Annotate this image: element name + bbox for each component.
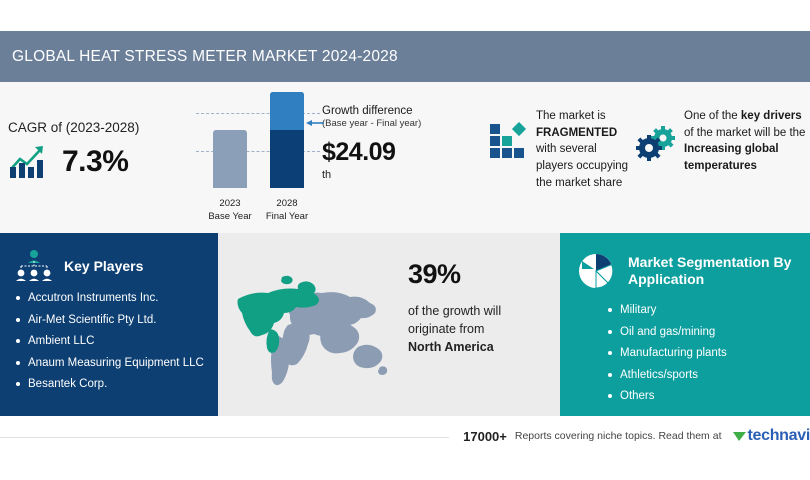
driver-line-3: Increasing global xyxy=(684,143,779,155)
bar-role-base: Base Year xyxy=(198,211,262,224)
growth-region: North America xyxy=(408,340,494,354)
bar-growth-segment xyxy=(270,92,304,130)
growth-difference-block: Growth difference (Base year - Final yea… xyxy=(322,104,487,181)
list-item: Besantek Corp. xyxy=(14,379,218,401)
infographic-root: GLOBAL HEAT STRESS METER MARKET 2024-202… xyxy=(0,0,810,480)
driver-line-1-bold: key drivers xyxy=(741,110,802,122)
growth-unit: th xyxy=(322,169,487,181)
gears-icon xyxy=(636,126,678,162)
list-item: Others xyxy=(606,391,810,413)
bar-year-final: 2028 xyxy=(255,198,319,211)
pie-chart-icon xyxy=(574,249,618,293)
key-players-list: Accutron Instruments Inc. Air-Met Scient… xyxy=(0,293,218,401)
market-fragmentation-text: The market is FRAGMENTED with several pl… xyxy=(536,108,628,191)
technavio-logo-text: technavi xyxy=(747,427,810,445)
market-segmentation-panel: Market Segmentation By Application Milit… xyxy=(560,233,810,416)
segmentation-header: Market Segmentation By Application xyxy=(560,233,810,293)
footer-report-count: 17000+ xyxy=(463,429,507,444)
list-item: Anaum Measuring Equipment LLC xyxy=(14,358,218,380)
page-title: GLOBAL HEAT STRESS METER MARKET 2024-202… xyxy=(0,48,398,66)
growth-amount: $24.09 xyxy=(322,138,487,167)
frag-line-4: players occupying xyxy=(536,158,628,175)
key-players-title: Key Players xyxy=(64,258,143,275)
segmentation-title-line-2: Application xyxy=(628,271,791,288)
bar-role-final: Final Year xyxy=(255,211,319,224)
list-item: Oil and gas/mining xyxy=(606,327,810,349)
bar-chart: 2023 Base Year 2028 Final Year xyxy=(196,100,316,228)
cagr-value-row: 7.3% xyxy=(8,143,193,181)
footer-tagline: Reports covering niche topics. Read them… xyxy=(515,430,722,442)
bar-caption-base: 2023 Base Year xyxy=(198,198,262,224)
segmentation-list: Military Oil and gas/mining Manufacturin… xyxy=(560,305,810,413)
list-item: Manufacturing plants xyxy=(606,348,810,370)
key-drivers-block: One of the key drivers of the market wil… xyxy=(636,108,810,175)
list-item: Air-Met Scientific Pty Ltd. xyxy=(14,315,218,337)
growth-subtitle: (Base year - Final year) xyxy=(322,118,487,130)
cagr-block: CAGR of (2023-2028) 7.3% xyxy=(8,120,193,181)
bar-base-year xyxy=(213,130,247,188)
fragmented-squares-icon xyxy=(488,122,528,162)
list-item: Military xyxy=(606,305,810,327)
world-map-icon xyxy=(230,263,410,391)
bar-year-base: 2023 xyxy=(198,198,262,211)
market-fragmentation-block: The market is FRAGMENTED with several pl… xyxy=(488,108,633,191)
growth-percent: 39% xyxy=(408,259,548,290)
list-item: Ambient LLC xyxy=(14,336,218,358)
header-bar: GLOBAL HEAT STRESS METER MARKET 2024-202… xyxy=(0,31,810,82)
growth-description: of the growth will originate from North … xyxy=(408,302,548,356)
key-players-panel: Key Players Accutron Instruments Inc. Ai… xyxy=(0,233,218,416)
list-item: Athletics/sports xyxy=(606,370,810,392)
frag-line-1: The market is xyxy=(536,108,628,125)
driver-line-2: of the market will be the xyxy=(684,125,805,142)
driver-line-1-prefix: One of the xyxy=(684,110,741,122)
regional-growth-panel: 39% of the growth will originate from No… xyxy=(218,233,560,416)
driver-line-4: temperatures xyxy=(684,160,757,172)
frag-line-5: the market share xyxy=(536,175,628,192)
regional-growth-text: 39% of the growth will originate from No… xyxy=(408,259,548,356)
bar-caption-final: 2028 Final Year xyxy=(255,198,319,224)
cagr-value: 7.3% xyxy=(62,145,128,179)
org-chart-icon xyxy=(14,249,54,283)
technavio-logo[interactable]: technavi xyxy=(733,427,810,445)
key-drivers-text: One of the key drivers of the market wil… xyxy=(684,108,805,175)
footer-content: 17000+ Reports covering niche topics. Re… xyxy=(449,427,810,445)
frag-line-3: with several xyxy=(536,141,628,158)
footer: 17000+ Reports covering niche topics. Re… xyxy=(0,416,810,480)
growth-desc-line-1: of the growth will xyxy=(408,302,548,320)
key-players-header: Key Players xyxy=(0,233,218,283)
technavio-arrow-icon xyxy=(733,430,746,443)
growth-desc-line-2: originate from xyxy=(408,320,548,338)
segmentation-title-line-1: Market Segmentation By xyxy=(628,254,791,271)
left-arrow-icon xyxy=(306,118,324,128)
stats-row: CAGR of (2023-2028) 7.3% xyxy=(0,82,810,233)
panels-row: Key Players Accutron Instruments Inc. Ai… xyxy=(0,233,810,416)
segmentation-title: Market Segmentation By Application xyxy=(628,254,791,288)
bar-chart-growth-icon xyxy=(8,143,50,181)
frag-line-2: FRAGMENTED xyxy=(536,127,617,139)
bar-final-year xyxy=(270,92,304,188)
growth-title: Growth difference xyxy=(322,104,487,118)
cagr-label: CAGR of (2023-2028) xyxy=(8,120,193,135)
list-item: Accutron Instruments Inc. xyxy=(14,293,218,315)
